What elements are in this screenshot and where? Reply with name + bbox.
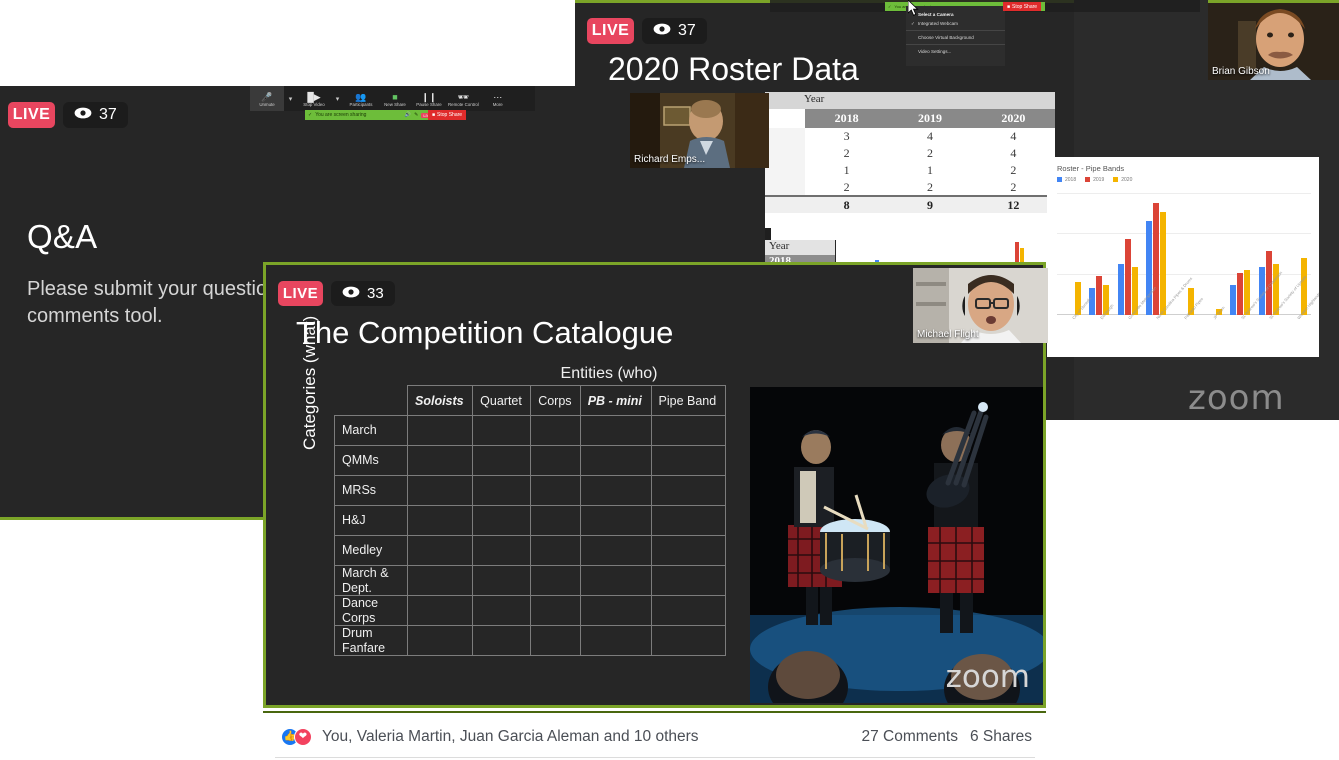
stage-performance-photo: zoom xyxy=(750,387,1046,703)
spreadsheet-top-bar xyxy=(765,228,771,240)
table-header-row: Soloists Quartet Corps PB - mini Pipe Ba… xyxy=(335,386,726,416)
chart-bar-group xyxy=(1118,239,1138,315)
column-header-pb-mini: PB - mini xyxy=(580,386,651,416)
viewer-count-badge: 37 xyxy=(642,18,707,44)
roster-pipe-bands-chart: Roster - Pipe Bands 2018 2019 2020 City … xyxy=(1047,157,1319,357)
cell[interactable] xyxy=(473,596,531,626)
column-header-soloists: Soloists xyxy=(408,386,473,416)
row-label-medley: Medley xyxy=(335,536,408,566)
microphone-muted-icon: 🎤 xyxy=(261,92,272,102)
share-audio-icon: 🔊 xyxy=(405,112,411,118)
cell[interactable] xyxy=(651,446,725,476)
cell[interactable] xyxy=(473,446,531,476)
cell: 2 xyxy=(805,179,888,196)
toolbar-more-button[interactable]: ⋯ More xyxy=(481,86,515,111)
chart-x-label: Palmetto Pipes xyxy=(1183,316,1187,320)
share-strip-label: You are screen sharing xyxy=(315,112,366,118)
table-row: Dance Corps xyxy=(335,596,726,626)
cell[interactable] xyxy=(473,476,531,506)
catalogue-categories-label: Categories (what) xyxy=(300,316,320,450)
cell[interactable] xyxy=(473,506,531,536)
share-check-icon: ✓ xyxy=(888,4,891,9)
cell: 2 xyxy=(972,162,1055,179)
share-check-icon: ✓ xyxy=(308,112,312,118)
cell[interactable] xyxy=(531,626,581,656)
toolbar-item-label: Stop Video xyxy=(303,102,324,107)
roster-spreadsheet: Year 2018 2019 2020 3 4 4 2 2 4 1 1 2 2 xyxy=(765,92,1055,240)
cell[interactable] xyxy=(531,536,581,566)
stop-share-label: Stop Share xyxy=(1012,4,1037,10)
stop-share-button[interactable]: ■ Stop Share xyxy=(428,110,466,120)
participant-name: Michael Flight xyxy=(917,329,979,340)
camera-menu-item-label: Integrated Webcam xyxy=(918,21,958,26)
table-row: Drum Fanfare xyxy=(335,626,726,656)
chart-bar-groups xyxy=(1057,193,1311,315)
cell[interactable] xyxy=(408,446,473,476)
cell[interactable] xyxy=(580,506,651,536)
legend-item-2020: 2020 xyxy=(1113,177,1132,183)
cell[interactable] xyxy=(651,416,725,446)
spreadsheet-year-label: Year xyxy=(765,240,835,255)
toolbar-item-label: New Share xyxy=(384,102,406,107)
cell[interactable] xyxy=(473,536,531,566)
viewer-count-value: 33 xyxy=(367,285,384,302)
stop-share-label: Stop Share xyxy=(437,112,462,118)
roster-stream-badges: LIVE 37 xyxy=(587,18,707,44)
toolbar-unmute-button[interactable]: 🎤 Unmute xyxy=(250,86,284,111)
stop-square-icon: ■ xyxy=(432,112,435,118)
cell: 3 xyxy=(805,128,888,145)
cell: 4 xyxy=(888,128,971,145)
toolbar-item-label: Unmute xyxy=(259,102,274,107)
column-header-pipe-band: Pipe Band xyxy=(651,386,725,416)
cell[interactable] xyxy=(473,416,531,446)
legend-item-2018: 2018 xyxy=(1057,177,1076,183)
cell[interactable] xyxy=(531,566,581,596)
chart-x-label: St. Andrew's Society of Upstate xyxy=(1268,316,1272,320)
photo-content xyxy=(750,387,1046,703)
table-row: 2 2 2 xyxy=(765,179,1055,196)
qa-slide-title: Q&A xyxy=(27,218,97,256)
cell[interactable] xyxy=(408,596,473,626)
participant-name: Richard Emps... xyxy=(634,154,705,165)
cell: 1 xyxy=(888,162,971,179)
cell[interactable] xyxy=(580,536,651,566)
chart-x-label: Edinburgh xyxy=(1099,316,1103,320)
total-cell: 8 xyxy=(805,196,888,213)
cell[interactable] xyxy=(473,566,531,596)
row-label-qmms: QMMs xyxy=(335,446,408,476)
toolbar-item-label: Pause Share xyxy=(416,102,441,107)
engagement-counts: 27 Comments 6 Shares xyxy=(861,728,1032,746)
zoom-meeting-toolbar[interactable]: 🎤 Unmute ▾ █▶ Stop Video ▾ 👥 Participant… xyxy=(250,86,535,111)
reaction-icons[interactable]: 👍 ❤ xyxy=(281,728,312,746)
cell[interactable] xyxy=(580,416,651,446)
roster-slide-title: 2020 Roster Data xyxy=(608,51,859,88)
catalogue-stream-badges: LIVE 33 xyxy=(278,281,395,306)
cell[interactable] xyxy=(651,476,725,506)
row-label-mrss: MRSs xyxy=(335,476,408,506)
camera-menu-item-video-settings[interactable]: Video Settings... xyxy=(906,47,1005,56)
eye-icon xyxy=(342,285,360,302)
row-label-drum-fanfare: Drum Fanfare xyxy=(335,626,408,656)
participants-icon: 👥 xyxy=(355,92,366,102)
mouse-cursor xyxy=(908,0,919,16)
camera-menu-item-virtual-background[interactable]: Choose Virtual Background xyxy=(906,33,1005,42)
table-row: March xyxy=(335,416,726,446)
zoom-wordmark: zoom xyxy=(1188,378,1285,418)
column-header-2018: 2018 xyxy=(805,109,888,128)
stream-composite: LIVE 37 Q&A Please submit your questions… xyxy=(0,0,1339,760)
row-label-hj: H&J xyxy=(335,506,408,536)
total-cell: 12 xyxy=(972,196,1055,213)
spreadsheet-year-label: Year xyxy=(765,92,1055,109)
chart-legend: 2018 2019 2020 xyxy=(1047,173,1319,183)
participant-video-richard[interactable]: Richard Emps... xyxy=(630,93,769,168)
chart-bar xyxy=(1160,212,1166,315)
cell[interactable] xyxy=(651,596,725,626)
viewer-count-value: 37 xyxy=(678,22,696,40)
catalogue-slide-title: The Competition Catalogue xyxy=(296,315,673,351)
cell: 4 xyxy=(972,128,1055,145)
cell[interactable] xyxy=(531,596,581,626)
table-header-row: 2018 2019 2020 xyxy=(765,109,1055,128)
chart-x-label: City of Dunedin xyxy=(1071,316,1075,320)
table-row: March & Dept. xyxy=(335,566,726,596)
chart-bar xyxy=(1118,264,1124,315)
menu-divider xyxy=(906,44,1005,45)
table-corner-cell xyxy=(335,386,408,416)
camera-menu-item-label: Video Settings... xyxy=(918,49,951,54)
viewer-count-badge: 33 xyxy=(331,281,395,306)
cell: 4 xyxy=(972,145,1055,162)
cell[interactable] xyxy=(580,596,651,626)
stop-square-icon: ■ xyxy=(1007,4,1010,10)
video-camera-icon: █▶ xyxy=(307,92,320,102)
row-label-march: March xyxy=(335,416,408,446)
chart-bar xyxy=(1230,285,1236,315)
cell: 2 xyxy=(805,145,888,162)
cell[interactable] xyxy=(531,476,581,506)
chart-x-label: JP Drum xyxy=(1212,316,1216,320)
live-badge: LIVE xyxy=(587,18,634,44)
camera-menu-item-integrated-webcam[interactable]: ✓ Integrated Webcam xyxy=(906,19,1005,28)
participant-video-brian[interactable]: Brian Gibson xyxy=(1208,0,1339,80)
chart-plot-area xyxy=(1057,193,1311,315)
photo-zoom-watermark: zoom xyxy=(946,659,1030,695)
cell[interactable] xyxy=(651,566,725,596)
chart-title: Roster - Pipe Bands xyxy=(1047,157,1319,173)
table-row: Medley xyxy=(335,536,726,566)
stop-share-button-secondary[interactable]: ■ Stop Share xyxy=(1003,2,1041,11)
table-corner-cell xyxy=(765,109,805,128)
catalogue-matrix-table: Soloists Quartet Corps PB - mini Pipe Ba… xyxy=(334,385,726,656)
toolbar-item-label: More xyxy=(493,102,503,107)
cell[interactable] xyxy=(473,626,531,656)
chart-x-label: North Carolina Pipes & Drums xyxy=(1155,316,1159,320)
cell[interactable] xyxy=(408,566,473,596)
toolbar-participants-button[interactable]: 👥 Participants xyxy=(344,86,378,111)
row-label-march-dept: March & Dept. xyxy=(335,566,408,596)
cell[interactable] xyxy=(408,476,473,506)
cell: 1 xyxy=(805,162,888,179)
column-header-2019: 2019 xyxy=(888,109,971,128)
spreadsheet-table: 2018 2019 2020 3 4 4 2 2 4 1 1 2 2 2 2 xyxy=(765,109,1055,213)
table-row: MRSs xyxy=(335,476,726,506)
column-header-corps: Corps xyxy=(531,386,581,416)
toolbar-item-label: Participants xyxy=(350,102,373,107)
comments-count[interactable]: 27 Comments xyxy=(861,728,957,746)
cell: 2 xyxy=(972,179,1055,196)
new-share-icon: ■ xyxy=(392,92,397,102)
cell[interactable] xyxy=(580,476,651,506)
chart-bar xyxy=(1125,239,1131,315)
toolbar-item-label: Remote Control xyxy=(448,102,479,107)
eye-icon xyxy=(653,22,671,40)
menu-divider xyxy=(906,30,1005,31)
viewer-count-value: 37 xyxy=(99,106,117,124)
chevron-down-icon-audio[interactable]: ▾ xyxy=(284,86,297,111)
cell[interactable] xyxy=(408,506,473,536)
chart-x-label: Western Highlanders xyxy=(1296,316,1300,320)
toolbar-remote-control-button[interactable]: 🕶 Remote Control xyxy=(446,86,481,111)
cell: 2 xyxy=(888,145,971,162)
cell[interactable] xyxy=(531,446,581,476)
viewer-count-badge: 37 xyxy=(63,102,128,128)
cell: 2 xyxy=(888,179,971,196)
cell[interactable] xyxy=(651,626,725,656)
more-dots-icon: ⋯ xyxy=(493,92,502,102)
cell[interactable] xyxy=(408,536,473,566)
check-icon: ✓ xyxy=(911,21,915,27)
row-label-dance-corps: Dance Corps xyxy=(335,596,408,626)
chevron-down-icon-video[interactable]: ▾ xyxy=(331,86,344,111)
reactors-names[interactable]: You, Valeria Martin, Juan Garcia Aleman … xyxy=(322,728,699,746)
facebook-engagement-bar: 👍 ❤ You, Valeria Martin, Juan Garcia Ale… xyxy=(263,711,1046,760)
table-row: H&J xyxy=(335,506,726,536)
chart-x-axis-labels: City of DunedinEdinburghGreenville Metro… xyxy=(1057,317,1311,351)
screen-sharing-strip: ✓ You are screen sharing 🔊 ✎ LIVE xyxy=(305,110,437,120)
chart-bar xyxy=(1153,203,1159,315)
chart-x-label: St. Andrew's Society of Charleston xyxy=(1240,316,1244,320)
camera-menu-item-label: Choose Virtual Background xyxy=(918,35,974,40)
participant-name: Brian Gibson xyxy=(1212,66,1270,77)
remote-control-icon: 🕶 xyxy=(458,92,469,102)
cell[interactable] xyxy=(580,626,651,656)
toolbar-new-share-button[interactable]: ■ New Share xyxy=(378,86,412,111)
shares-count[interactable]: 6 Shares xyxy=(970,728,1032,746)
cell[interactable] xyxy=(531,416,581,446)
qa-stream-badges: LIVE 37 xyxy=(8,102,128,128)
cell[interactable] xyxy=(580,566,651,596)
column-header-2020: 2020 xyxy=(972,109,1055,128)
participant-video-michael[interactable]: Michael Flight xyxy=(913,268,1048,343)
cell[interactable] xyxy=(651,506,725,536)
table-row: 1 1 2 xyxy=(765,162,1055,179)
table-row: 2 2 4 xyxy=(765,145,1055,162)
catalogue-entities-label: Entities (who) xyxy=(444,365,774,383)
cell[interactable] xyxy=(580,446,651,476)
chart-bar xyxy=(1096,276,1102,315)
camera-menu-header: Select a Camera xyxy=(906,10,1005,19)
love-icon: ❤ xyxy=(294,728,312,746)
cell[interactable] xyxy=(531,506,581,536)
total-cell: 9 xyxy=(888,196,971,213)
facebook-bar-divider xyxy=(275,757,1035,758)
cell[interactable] xyxy=(408,416,473,446)
table-total-row: 8 9 12 xyxy=(765,196,1055,213)
legend-item-2019: 2019 xyxy=(1085,177,1104,183)
column-header-quartet: Quartet xyxy=(473,386,531,416)
page-background-left xyxy=(0,520,263,760)
eye-icon xyxy=(74,106,92,124)
cell[interactable] xyxy=(408,626,473,656)
toolbar-stop-video-button[interactable]: █▶ Stop Video xyxy=(297,86,331,111)
toolbar-pause-share-button[interactable]: ❙❙ Pause Share xyxy=(412,86,446,111)
live-badge: LIVE xyxy=(278,281,323,306)
share-annotate-icon: ✎ xyxy=(414,112,418,118)
live-badge: LIVE xyxy=(8,102,55,128)
select-camera-dropdown[interactable]: Select a Camera ✓ Integrated Webcam Choo… xyxy=(906,6,1005,66)
table-row: QMMs xyxy=(335,446,726,476)
chart-bar xyxy=(1237,273,1243,315)
table-row: 3 4 4 xyxy=(765,128,1055,145)
pause-icon: ❙❙ xyxy=(421,92,436,102)
chart-x-label: Greenville Metropolitan xyxy=(1127,316,1131,320)
cell[interactable] xyxy=(651,536,725,566)
